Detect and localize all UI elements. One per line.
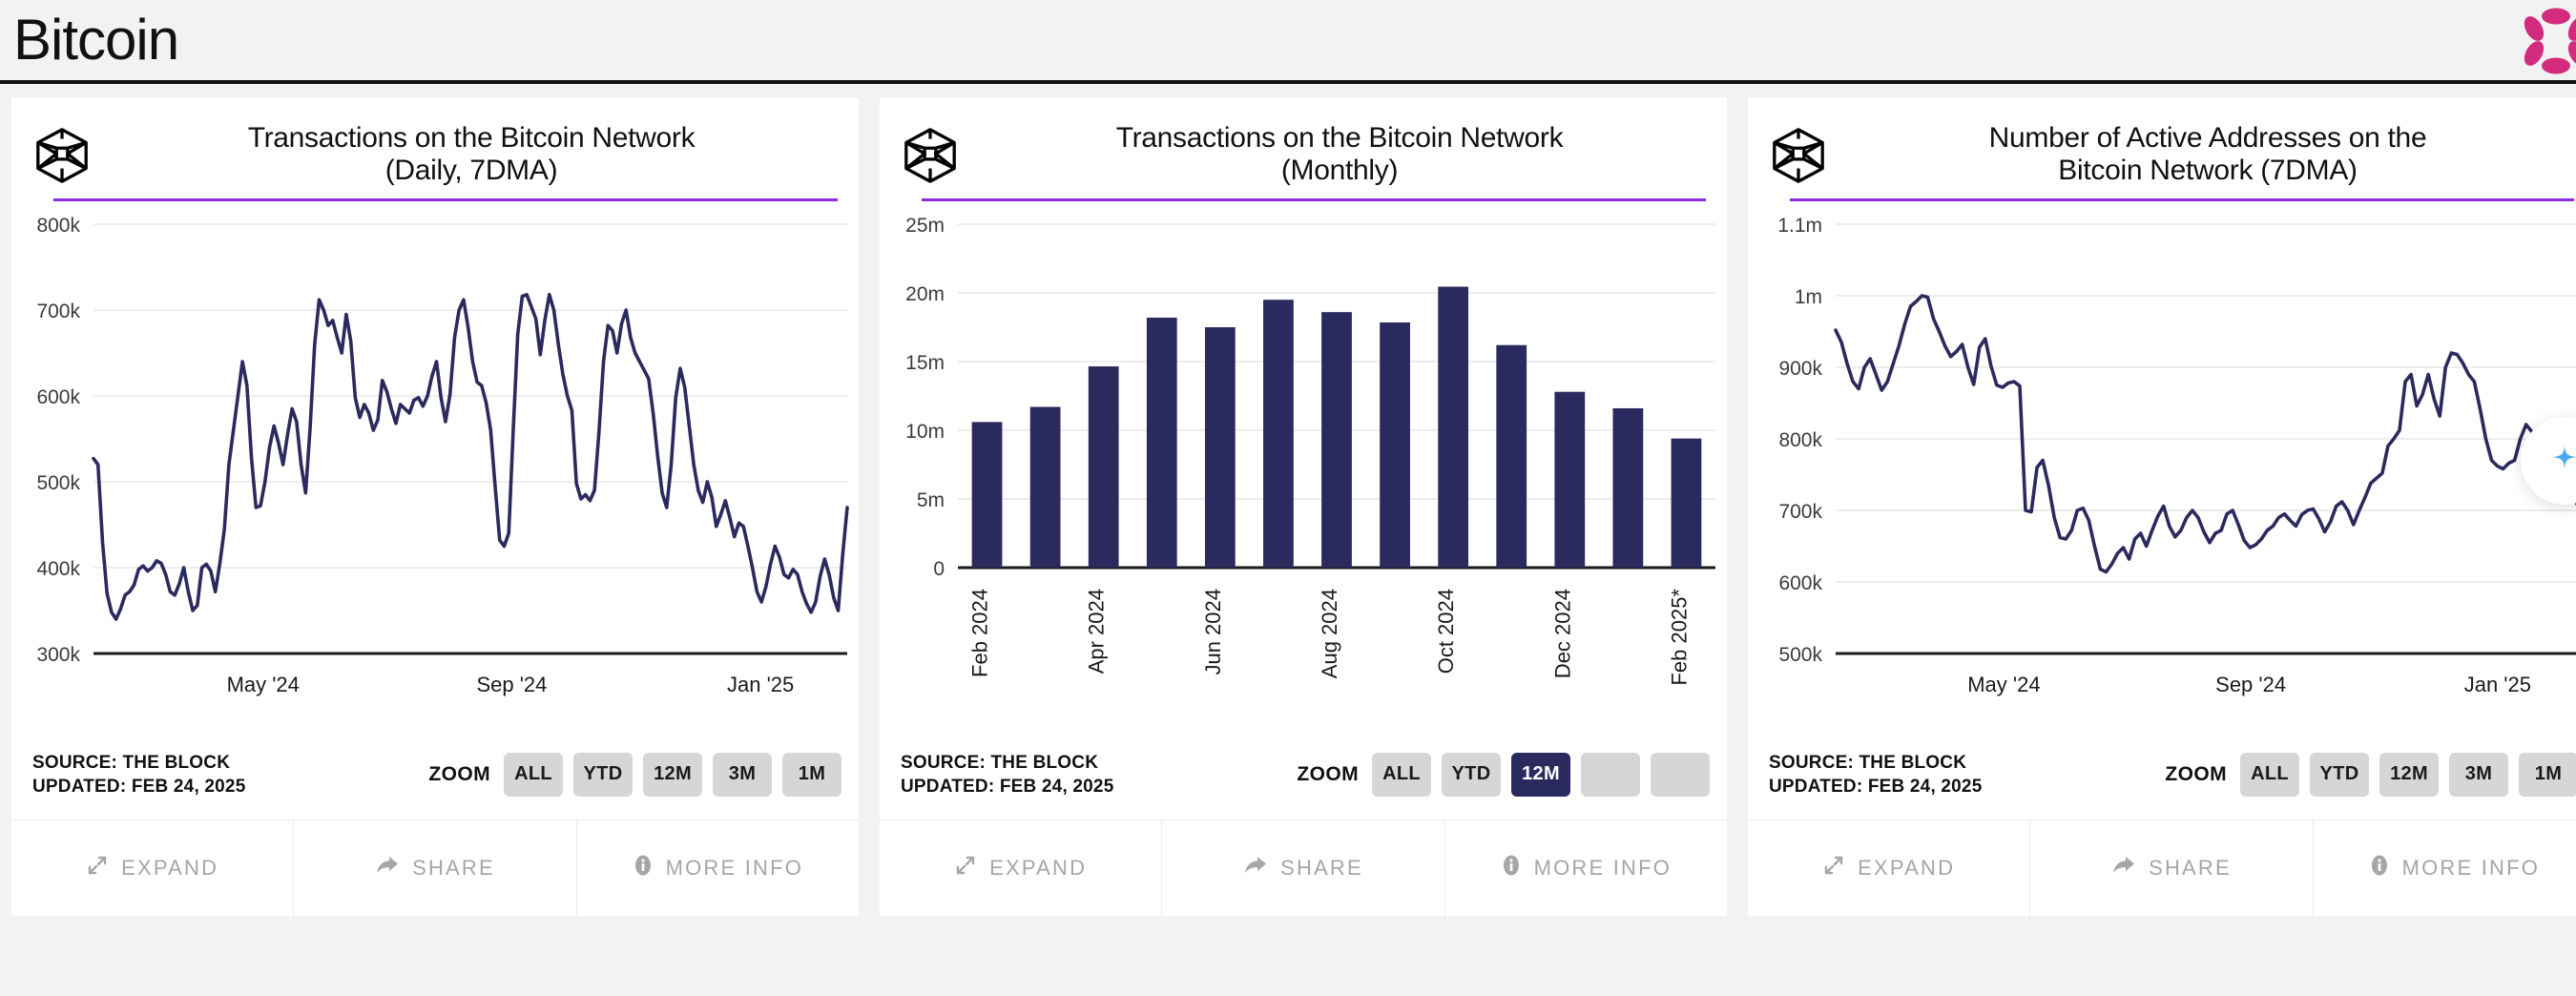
zoom-option-ytd[interactable]: YTD [1442, 753, 1501, 797]
expand-label: EXPAND [1858, 856, 1955, 881]
source-info: SOURCE: THE BLOCK UPDATED: FEB 24, 2025 [32, 751, 245, 799]
zoom-option-1m[interactable]: 1M [2519, 753, 2576, 797]
share-icon [1243, 854, 1268, 882]
expand-icon [954, 854, 977, 882]
card-title-line1: Transactions on the Bitcoin Network [248, 122, 696, 154]
zoom-option-12m[interactable]: 12M [643, 753, 702, 797]
title-accent-rule [922, 198, 1706, 201]
share-label: SHARE [1280, 856, 1363, 881]
source-label: SOURCE: THE BLOCK [1769, 751, 1982, 775]
card-title: Transactions on the Bitcoin Network (Mon… [979, 122, 1706, 187]
expand-button[interactable]: EXPAND [880, 820, 1162, 916]
card-title-line2: Bitcoin Network (7DMA) [2058, 155, 2357, 186]
svg-text:0: 0 [933, 558, 945, 580]
svg-text:800k: 800k [1778, 429, 1822, 451]
zoom-option-blank-1[interactable] [1581, 753, 1640, 797]
zoom-label: ZOOM [1297, 763, 1359, 786]
page-header: Bitcoin [0, 0, 2576, 84]
zoom-controls: ZOOM ALL YTD 12M [1297, 753, 1710, 797]
charts-row: Transactions on the Bitcoin Network (Dai… [0, 84, 2576, 916]
svg-text:Sep '24: Sep '24 [476, 673, 547, 696]
share-label: SHARE [2149, 856, 2232, 881]
zoom-option-3m[interactable]: 3M [2449, 753, 2508, 797]
more-info-label: MORE INFO [666, 856, 803, 881]
cube-icon [32, 126, 92, 185]
svg-text:Jan '25: Jan '25 [727, 673, 794, 696]
title-accent-rule [1790, 198, 2574, 201]
card-title: Number of Active Addresses on the Bitcoi… [1847, 122, 2574, 187]
share-button[interactable]: SHARE [1162, 820, 1444, 916]
page-root: Bitcoin [0, 0, 2576, 996]
svg-text:Oct 2024: Oct 2024 [1434, 589, 1458, 674]
more-info-label: MORE INFO [1534, 856, 1672, 881]
share-icon [375, 854, 400, 882]
updated-label: UPDATED: FEB 24, 2025 [901, 775, 1113, 799]
card-title-line2: (Daily, 7DMA) [385, 155, 558, 186]
updated-label: UPDATED: FEB 24, 2025 [32, 775, 245, 799]
zoom-option-12m[interactable]: 12M [1511, 753, 1570, 797]
svg-text:600k: 600k [36, 386, 80, 408]
zoom-controls: ZOOM ALL YTD 12M 3M 1M [2165, 753, 2576, 797]
svg-text:Apr 2024: Apr 2024 [1085, 589, 1109, 674]
chart-canvas-addresses: 500k600k700k800k900k1m1.1mMay '24Sep '24… [1752, 211, 2576, 745]
more-info-button[interactable]: MORE INFO [2314, 820, 2576, 916]
page-title: Bitcoin [13, 11, 178, 69]
title-accent-rule [53, 198, 838, 201]
info-icon [1501, 854, 1522, 882]
card-title-line1: Number of Active Addresses on the [1989, 122, 2427, 154]
svg-text:15m: 15m [905, 352, 945, 374]
zoom-controls: ZOOM ALL YTD 12M 3M 1M [428, 753, 841, 797]
source-label: SOURCE: THE BLOCK [901, 751, 1113, 775]
zoom-option-all[interactable]: ALL [1372, 753, 1431, 797]
card-title-line1: Transactions on the Bitcoin Network [1116, 122, 1564, 154]
chart-card-active-addresses: Number of Active Addresses on the Bitcoi… [1748, 97, 2576, 916]
source-info: SOURCE: THE BLOCK UPDATED: FEB 24, 2025 [901, 751, 1113, 799]
svg-text:25m: 25m [905, 215, 945, 237]
svg-text:May '24: May '24 [1967, 673, 2040, 696]
svg-text:Aug 2024: Aug 2024 [1318, 589, 1341, 678]
svg-text:1m: 1m [1795, 286, 1822, 308]
zoom-option-ytd[interactable]: YTD [573, 753, 633, 797]
info-icon [633, 854, 654, 882]
svg-text:Jun 2024: Jun 2024 [1201, 589, 1225, 675]
svg-text:May '24: May '24 [227, 673, 300, 696]
zoom-option-3m[interactable]: 3M [713, 753, 772, 797]
more-info-button[interactable]: MORE INFO [1445, 820, 1727, 916]
svg-text:Feb 2024: Feb 2024 [968, 589, 992, 677]
updated-label: UPDATED: FEB 24, 2025 [1769, 775, 1982, 799]
expand-label: EXPAND [121, 856, 218, 881]
expand-icon [86, 854, 109, 882]
zoom-option-ytd[interactable]: YTD [2310, 753, 2369, 797]
zoom-label: ZOOM [2165, 763, 2227, 786]
expand-label: EXPAND [989, 856, 1087, 881]
card-actions: EXPAND SHARE [11, 820, 859, 916]
svg-text:600k: 600k [1778, 572, 1822, 594]
card-title-line2: (Monthly) [1281, 155, 1398, 186]
zoom-label: ZOOM [428, 763, 490, 786]
card-meta: SOURCE: THE BLOCK UPDATED: FEB 24, 2025 … [880, 745, 1727, 820]
card-meta: SOURCE: THE BLOCK UPDATED: FEB 24, 2025 … [1748, 745, 2576, 820]
expand-button[interactable]: EXPAND [1748, 820, 2030, 916]
zoom-option-12m[interactable]: 12M [2379, 753, 2439, 797]
svg-text:500k: 500k [36, 472, 80, 494]
chart-canvas-monthly: 05m10m15m20m25mFeb 2024Apr 2024Jun 2024A… [883, 211, 1723, 745]
more-info-button[interactable]: MORE INFO [577, 820, 859, 916]
svg-text:700k: 700k [36, 301, 80, 322]
source-info: SOURCE: THE BLOCK UPDATED: FEB 24, 2025 [1769, 751, 1982, 799]
card-actions: EXPAND SHARE [1748, 820, 2576, 916]
svg-text:Sep '24: Sep '24 [2215, 673, 2286, 696]
more-info-label: MORE INFO [2402, 856, 2540, 881]
share-button[interactable]: SHARE [294, 820, 576, 916]
info-icon [2369, 854, 2390, 882]
expand-icon [1822, 854, 1845, 882]
cube-icon [1769, 126, 1828, 185]
expand-button[interactable]: EXPAND [11, 820, 294, 916]
polkadot-logo-icon [2519, 8, 2576, 74]
svg-text:400k: 400k [36, 558, 80, 580]
chart-canvas-daily: 300k400k500k600k700k800kMay '24Sep '24Ja… [15, 211, 855, 745]
card-title: Transactions on the Bitcoin Network (Dai… [111, 122, 838, 187]
svg-text:300k: 300k [36, 644, 80, 666]
share-icon [2111, 854, 2136, 882]
svg-text:700k: 700k [1778, 501, 1822, 523]
svg-text:Jan '25: Jan '25 [2464, 673, 2531, 696]
card-actions: EXPAND SHARE [880, 820, 1727, 916]
svg-text:500k: 500k [1778, 644, 1822, 666]
zoom-option-blank-2[interactable] [1651, 753, 1710, 797]
cube-icon [901, 126, 960, 185]
share-button[interactable]: SHARE [2030, 820, 2313, 916]
zoom-option-all[interactable]: ALL [2240, 753, 2299, 797]
zoom-option-1m[interactable]: 1M [782, 753, 841, 797]
svg-text:1.1m: 1.1m [1777, 215, 1822, 237]
svg-text:Feb 2025*: Feb 2025* [1667, 588, 1691, 685]
svg-text:800k: 800k [36, 215, 80, 237]
chart-card-daily-transactions: Transactions on the Bitcoin Network (Dai… [11, 97, 859, 916]
svg-text:10m: 10m [905, 421, 945, 443]
source-label: SOURCE: THE BLOCK [32, 751, 245, 775]
svg-text:900k: 900k [1778, 358, 1822, 380]
svg-text:5m: 5m [917, 489, 945, 511]
chart-card-monthly-transactions: Transactions on the Bitcoin Network (Mon… [880, 97, 1727, 916]
card-meta: SOURCE: THE BLOCK UPDATED: FEB 24, 2025 … [11, 745, 859, 820]
svg-text:20m: 20m [905, 283, 945, 305]
card-header: Transactions on the Bitcoin Network (Dai… [11, 97, 859, 187]
card-header: Transactions on the Bitcoin Network (Mon… [880, 97, 1727, 187]
svg-text:Dec 2024: Dec 2024 [1550, 589, 1574, 678]
zoom-option-all[interactable]: ALL [504, 753, 563, 797]
card-header: Number of Active Addresses on the Bitcoi… [1748, 97, 2576, 187]
sparkle-icon [2550, 445, 2576, 478]
share-label: SHARE [412, 856, 495, 881]
